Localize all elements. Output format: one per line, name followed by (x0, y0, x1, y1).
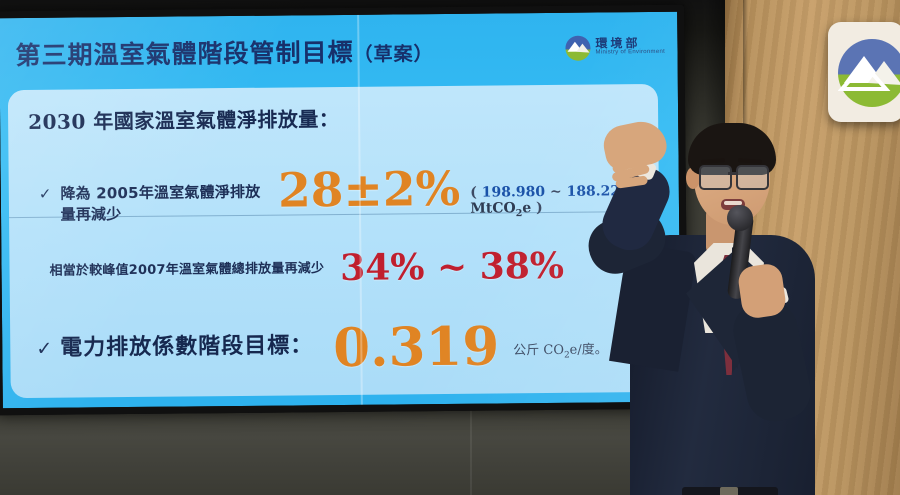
video-wall-display: 第三期溫室氣體階段管制目標（草案） 環境部 Ministry of Enviro… (0, 5, 688, 416)
eyeglasses-left-lens-icon (699, 165, 732, 190)
photo-scene: 第三期溫室氣體階段管制目標（草案） 環境部 Ministry of Enviro… (0, 0, 900, 495)
belt-buckle (720, 487, 738, 495)
raised-hand (600, 117, 670, 173)
hand-holding-microphone (737, 262, 788, 320)
display-bezel (0, 5, 688, 416)
eyeglasses-bridge (728, 172, 737, 175)
speaker-person (590, 95, 850, 495)
eyeglasses-right-lens-icon (736, 165, 769, 190)
